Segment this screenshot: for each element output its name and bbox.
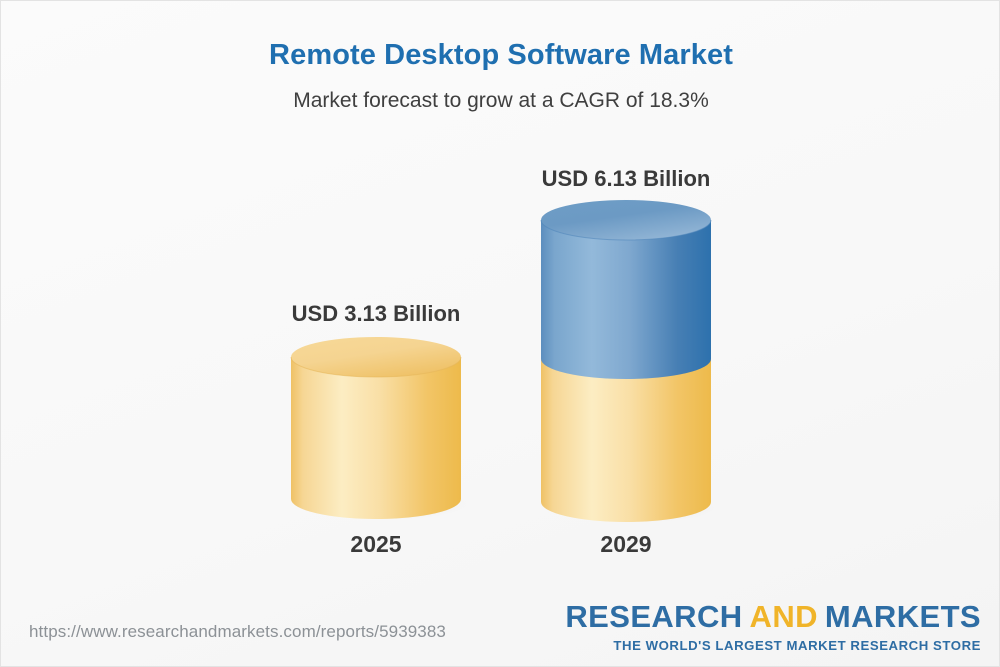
bar-category-label-2029: 2029: [466, 531, 786, 558]
bar-value-label-2029: USD 6.13 Billion: [466, 166, 786, 192]
plot-area: USD 3.13 Billion: [1, 1, 1000, 601]
brand-word-markets: MARKETS: [825, 599, 981, 634]
chart-canvas: Remote Desktop Software Market Market fo…: [0, 0, 1000, 667]
brand-logo: RESEARCHANDMARKETS THE WORLD'S LARGEST M…: [565, 601, 981, 652]
cylinder-segment-growth-2029: [541, 220, 711, 379]
brand-wordmark: RESEARCHANDMARKETS: [565, 601, 981, 632]
bar-value-label-2025: USD 3.13 Billion: [216, 301, 536, 327]
cylinder-body-2025: [291, 357, 461, 519]
brand-tagline: THE WORLD'S LARGEST MARKET RESEARCH STOR…: [565, 639, 981, 652]
cylinder-2025: [286, 336, 476, 526]
cylinder-segment-base-2029: [541, 359, 711, 522]
source-url[interactable]: https://www.researchandmarkets.com/repor…: [29, 622, 446, 642]
brand-word-and: AND: [750, 599, 818, 634]
cylinder-2029: [536, 199, 736, 529]
brand-word-research: RESEARCH: [565, 599, 742, 634]
